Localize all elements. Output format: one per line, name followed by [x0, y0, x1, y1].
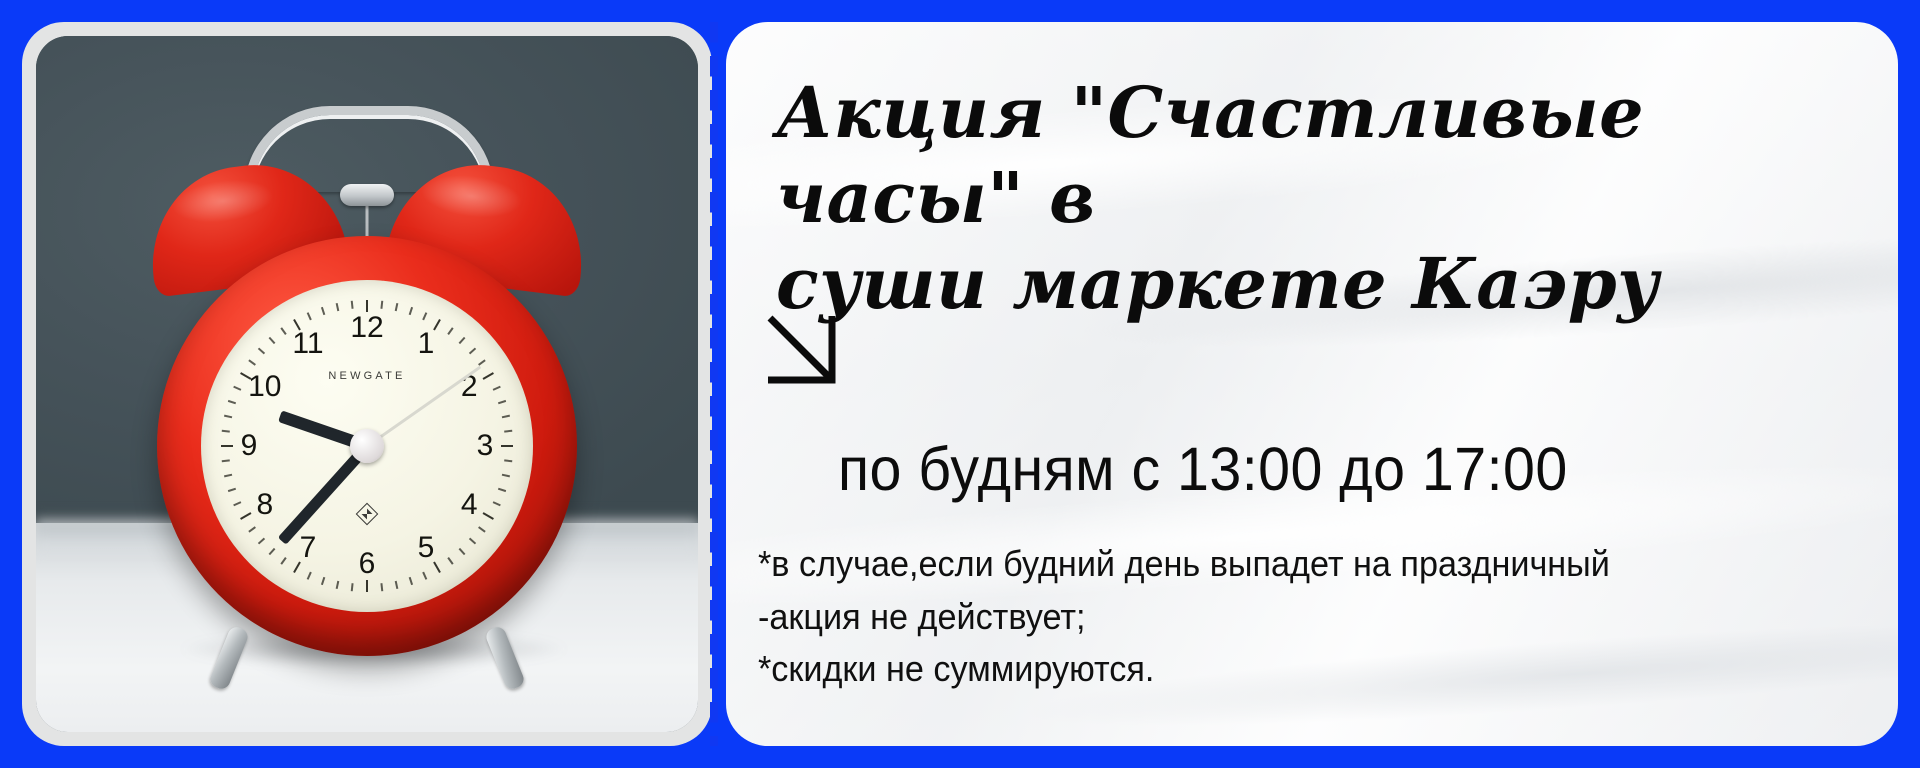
clock-tick — [478, 359, 486, 365]
promo-hours: по будням с 13:00 до 17:00 — [838, 434, 1568, 504]
clock-tick — [228, 488, 236, 492]
clock-brand-label: NEWGATE — [328, 370, 405, 382]
clock-tick — [502, 415, 510, 419]
alarm-clock-photo: NEWGATE 121234567891011 — [36, 36, 698, 732]
clock-tick — [240, 512, 251, 520]
clock-tick — [504, 430, 512, 433]
clock-tick — [447, 327, 453, 335]
headline-line-2: суши маркете Каэру — [776, 241, 1866, 326]
clock-tick — [269, 337, 276, 344]
clock-tick — [502, 474, 510, 478]
clock-hammer — [340, 184, 394, 206]
clock-tick — [351, 301, 354, 309]
clock-tick — [351, 583, 354, 591]
clock-tick — [422, 572, 427, 580]
clock-tick — [336, 303, 340, 311]
clock-dial: NEWGATE 121234567891011 — [201, 280, 533, 612]
clock-tick — [504, 459, 512, 462]
clock-tick — [258, 348, 265, 355]
clock-tick — [493, 386, 501, 391]
note-line: -акция не действует; — [758, 591, 1822, 644]
clock-tick — [321, 307, 325, 315]
clock-tick — [258, 538, 265, 545]
clock-numeral: 3 — [477, 429, 494, 463]
clock-tick — [459, 337, 466, 344]
clock-tick — [222, 459, 230, 462]
clock-tick — [248, 359, 256, 365]
clock-tick — [336, 581, 340, 589]
clock-tick — [307, 572, 312, 580]
clock-tick — [366, 580, 368, 592]
clock-logo-icon — [356, 502, 379, 525]
clock-center-cap — [350, 429, 384, 463]
clock-tick — [224, 474, 232, 478]
clock-tick — [248, 526, 256, 532]
clock-tick — [228, 400, 236, 404]
clock-tick — [321, 577, 325, 585]
clock-tick — [501, 445, 513, 447]
clock-tick — [469, 348, 476, 355]
clock-tick — [498, 400, 506, 404]
clock-tick — [483, 512, 494, 520]
promo-banner: NEWGATE 121234567891011 Акция "Счастливы… — [0, 0, 1920, 768]
clock-tick — [233, 386, 241, 391]
clock-tick — [395, 581, 399, 589]
clock-numeral: 8 — [256, 488, 273, 522]
clock-tick — [498, 488, 506, 492]
clock-tick — [409, 307, 413, 315]
clock-tick — [380, 583, 383, 591]
note-line: *скидки не суммируются. — [758, 643, 1822, 696]
page-title: Акция "Счастливые часы" в суши маркете К… — [776, 70, 1866, 326]
clock-tick — [233, 501, 241, 506]
clock-tick — [395, 303, 399, 311]
dashed-divider — [710, 22, 718, 746]
clock-numeral: 1 — [418, 327, 435, 361]
clock-tick — [222, 430, 230, 433]
arrow-down-right-icon — [760, 302, 856, 398]
text-panel: Акция "Счастливые часы" в суши маркете К… — [726, 22, 1898, 746]
clock-numeral: 4 — [461, 488, 478, 522]
clock-tick — [469, 538, 476, 545]
clock-tick — [459, 548, 466, 555]
clock-tick — [478, 526, 486, 532]
photo-panel: NEWGATE 121234567891011 — [22, 22, 712, 746]
clock-case: NEWGATE 121234567891011 — [157, 236, 577, 656]
clock-tick — [280, 327, 286, 335]
clock-numeral: 11 — [292, 327, 323, 361]
clock-tick — [493, 501, 501, 506]
clock-tick — [307, 312, 312, 320]
clock-numeral: 10 — [248, 370, 281, 404]
clock-tick — [221, 445, 233, 447]
clock-numeral: 5 — [418, 531, 435, 565]
clock-tick — [269, 548, 276, 555]
clock-tick — [422, 312, 427, 320]
clock-tick — [280, 557, 286, 565]
clock-tick — [224, 415, 232, 419]
clock-tick — [380, 301, 383, 309]
headline-line-1: Акция "Счастливые часы" в — [776, 70, 1866, 241]
clock-tick — [447, 557, 453, 565]
clock-numeral: 6 — [359, 547, 376, 581]
clock-tick — [409, 577, 413, 585]
clock-numeral: 12 — [350, 311, 383, 345]
clock-numeral: 7 — [300, 531, 317, 565]
clock-numeral: 9 — [241, 429, 258, 463]
clock-tick — [483, 372, 494, 380]
fine-print-notes: *в случае,если будний день выпадет на пр… — [758, 538, 1878, 696]
alarm-clock: NEWGATE 121234567891011 — [132, 104, 602, 664]
note-line: *в случае,если будний день выпадет на пр… — [758, 538, 1822, 591]
